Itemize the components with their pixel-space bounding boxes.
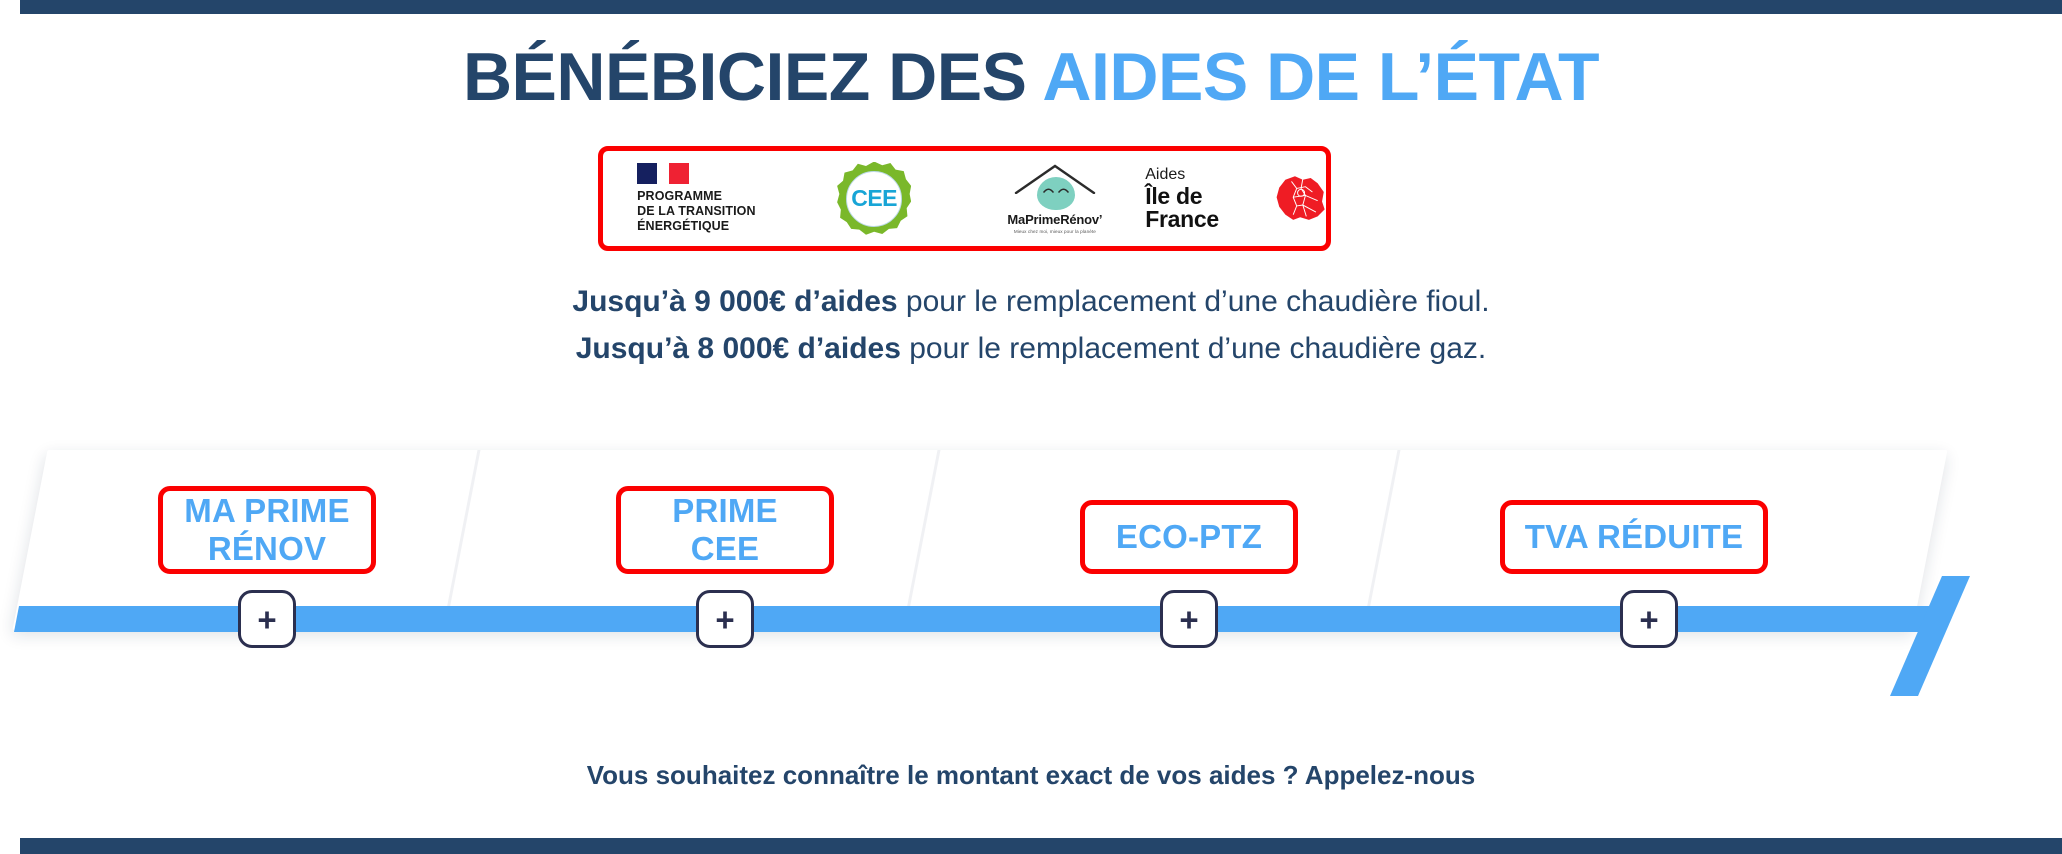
partner-logo-strip: PROGRAMME DE LA TRANSITION ÉNERGÉTIQUE C… <box>598 146 1331 251</box>
expand-button-ma-prime-renov[interactable]: + <box>238 590 296 648</box>
cta-text: Vous souhaitez connaître le montant exac… <box>0 760 2062 791</box>
french-flag-icon <box>637 163 756 184</box>
smiley-eyes-icon <box>1043 186 1069 196</box>
expand-button-eco-ptz[interactable]: + <box>1160 590 1218 648</box>
logo-cell-cee: CEE <box>784 151 965 246</box>
aid-amount-bold: Jusqu’à 8 000€ d’aides <box>576 332 901 365</box>
aid-card-label: ECO-PTZ <box>1116 518 1262 556</box>
programme-line-2: DE LA TRANSITION <box>637 204 756 219</box>
maprimerenov-label: MaPrimeRénov’ <box>1007 212 1102 227</box>
programme-transition-energetique-logo: PROGRAMME DE LA TRANSITION ÉNERGÉTIQUE <box>631 163 756 235</box>
aid-amount-rest: pour le remplacement d’une chaudière gaz… <box>901 332 1486 365</box>
logo-cell-maprimerenov: MaPrimeRénov’ Mieux chez moi, mieux pour… <box>965 151 1146 246</box>
ile-de-france-map-icon <box>1274 171 1326 226</box>
plus-icon: + <box>257 603 276 636</box>
maprimerenov-house-icon <box>1013 164 1097 210</box>
aid-amount-line: Jusqu’à 9 000€ d’aides pour le remplacem… <box>0 278 2062 325</box>
aides-ile-de-france-logo: Aides Île de France <box>1145 167 1326 231</box>
expand-button-tva-reduite[interactable]: + <box>1620 590 1678 648</box>
aid-card-label: TVA RÉDUITE <box>1525 518 1744 556</box>
programme-line-1: PROGRAMME <box>637 189 756 204</box>
idf-line-2: Île de France <box>1145 185 1264 231</box>
cee-logo: CEE <box>837 162 911 236</box>
aid-amount-bold: Jusqu’à 9 000€ d’aides <box>572 285 897 318</box>
aid-card-ma-prime-renov[interactable]: MA PRIMERÉNOV <box>158 486 376 574</box>
plus-icon: + <box>1179 603 1198 636</box>
maprimerenov-logo: MaPrimeRénov’ Mieux chez moi, mieux pour… <box>1007 164 1102 234</box>
bottom-accent-bar <box>20 838 2062 854</box>
page-title-light: AIDES DE L’ÉTAT <box>1042 39 1599 115</box>
programme-logo-text: PROGRAMME DE LA TRANSITION ÉNERGÉTIQUE <box>637 189 756 235</box>
aid-amounts: Jusqu’à 9 000€ d’aides pour le remplacem… <box>0 278 2062 373</box>
programme-line-3: ÉNERGÉTIQUE <box>637 219 756 234</box>
maprimerenov-tagline: Mieux chez moi, mieux pour la planète <box>1014 229 1096 234</box>
aid-card-label: PRIMECEE <box>672 492 778 569</box>
aids-timeline: MA PRIMERÉNOV PRIMECEE ECO-PTZ TVA RÉDUI… <box>0 430 2062 650</box>
idf-line-1: Aides <box>1145 167 1264 183</box>
aid-card-tva-reduite[interactable]: TVA RÉDUITE <box>1500 500 1768 574</box>
page-title-dark: BÉNÉBICIEZ DES <box>463 39 1027 115</box>
aid-amount-line: Jusqu’à 8 000€ d’aides pour le remplacem… <box>0 325 2062 372</box>
plus-icon: + <box>1639 603 1658 636</box>
plus-icon: + <box>715 603 734 636</box>
expand-button-prime-cee[interactable]: + <box>696 590 754 648</box>
top-accent-bar <box>20 0 2062 14</box>
idf-text: Aides Île de France <box>1145 167 1264 231</box>
logo-cell-iledefrance: Aides Île de France <box>1145 151 1326 246</box>
page-title: BÉNÉBICIEZ DES AIDES DE L’ÉTAT <box>0 42 2062 113</box>
aid-card-label: MA PRIMERÉNOV <box>184 492 349 569</box>
aid-card-prime-cee[interactable]: PRIMECEE <box>616 486 834 574</box>
logo-cell-programme: PROGRAMME DE LA TRANSITION ÉNERGÉTIQUE <box>603 151 784 246</box>
cee-label: CEE <box>851 185 897 212</box>
aid-card-eco-ptz[interactable]: ECO-PTZ <box>1080 500 1298 574</box>
aid-amount-rest: pour le remplacement d’une chaudière fio… <box>898 285 1490 318</box>
cee-inner-circle: CEE <box>846 171 902 227</box>
